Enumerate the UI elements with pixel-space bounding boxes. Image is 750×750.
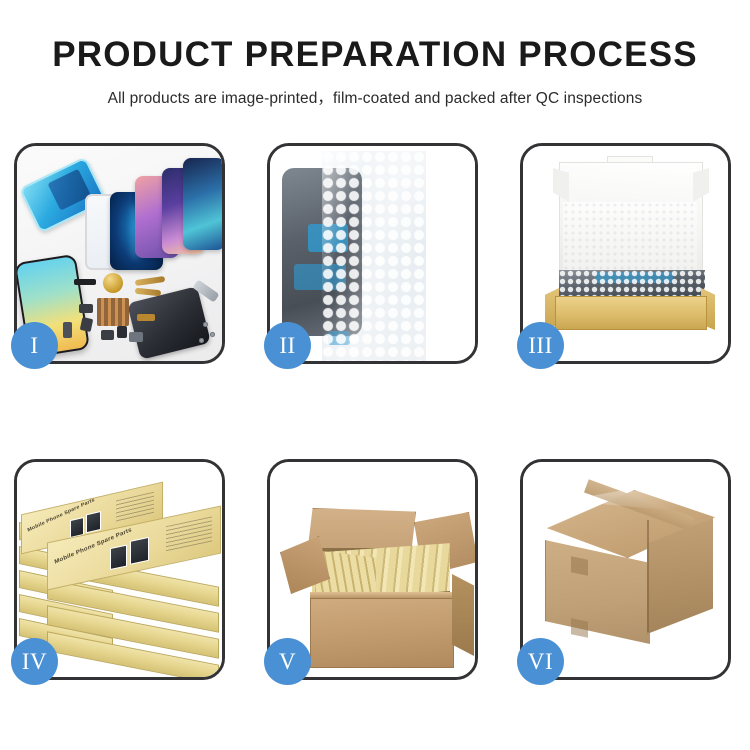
process-step-grid: I II bbox=[14, 143, 736, 680]
process-step-panel-5[interactable]: V bbox=[267, 459, 478, 680]
flex-cable-icon bbox=[135, 288, 161, 297]
battery-connector-icon bbox=[63, 322, 72, 338]
carton-front-face bbox=[545, 540, 650, 644]
box-base-kraft bbox=[555, 296, 707, 330]
flex-cable-icon bbox=[135, 276, 166, 286]
carton-side-face bbox=[452, 574, 474, 656]
screw-icon bbox=[210, 332, 215, 337]
header: PRODUCT PREPARATION PROCESS All products… bbox=[0, 0, 750, 108]
small-part-icon bbox=[117, 326, 127, 338]
step-badge-5: V bbox=[264, 638, 311, 685]
chip-array-icon bbox=[97, 298, 129, 326]
box-artwork-phone-icon bbox=[86, 511, 101, 533]
small-part-icon bbox=[80, 317, 93, 332]
box-artwork-phone-icon bbox=[110, 544, 127, 570]
step-badge-6: VI bbox=[517, 638, 564, 685]
process-step-panel-6[interactable]: VI bbox=[520, 459, 731, 680]
contents-bubble-texture bbox=[559, 270, 705, 298]
page-title: PRODUCT PREPARATION PROCESS bbox=[0, 0, 750, 75]
speaker-module-icon bbox=[74, 279, 96, 285]
process-step-panel-1[interactable]: I bbox=[14, 143, 225, 364]
box-artwork-spec-lines bbox=[166, 516, 212, 552]
phone-display-blue-icon bbox=[183, 158, 222, 250]
step-badge-2: II bbox=[264, 322, 311, 369]
small-part-icon bbox=[79, 304, 93, 313]
box-lid-fold-right bbox=[693, 168, 709, 202]
process-step-panel-4[interactable]: Mobile Phone Spare Parts Mobile Phone Sp… bbox=[14, 459, 225, 680]
carton-corner-seam bbox=[647, 520, 649, 632]
box-artwork-spec-lines bbox=[116, 492, 154, 523]
step-badge-1: I bbox=[11, 322, 58, 369]
small-part-icon bbox=[101, 330, 114, 340]
box-lid-fold-left bbox=[553, 168, 569, 202]
screw-icon bbox=[203, 322, 208, 327]
small-part-icon bbox=[129, 332, 143, 342]
plastic-gloss-overlay bbox=[322, 151, 426, 361]
foam-liner bbox=[563, 202, 697, 274]
screw-icon bbox=[199, 338, 204, 343]
page-subtitle: All products are image-printed，film-coat… bbox=[0, 75, 750, 108]
carton-tab-mark bbox=[571, 618, 588, 638]
box-artwork-phone-icon bbox=[130, 537, 149, 565]
carton-tab-mark bbox=[571, 556, 588, 576]
phone-back-housing-icon bbox=[127, 286, 211, 360]
process-step-panel-2[interactable]: II bbox=[267, 143, 478, 364]
carton-front-face bbox=[310, 598, 454, 668]
gold-contact-icon bbox=[137, 314, 155, 321]
step-badge-4: IV bbox=[11, 638, 58, 685]
process-step-panel-3[interactable]: III bbox=[520, 143, 731, 364]
step-badge-3: III bbox=[517, 322, 564, 369]
copper-coil-icon bbox=[103, 273, 123, 293]
